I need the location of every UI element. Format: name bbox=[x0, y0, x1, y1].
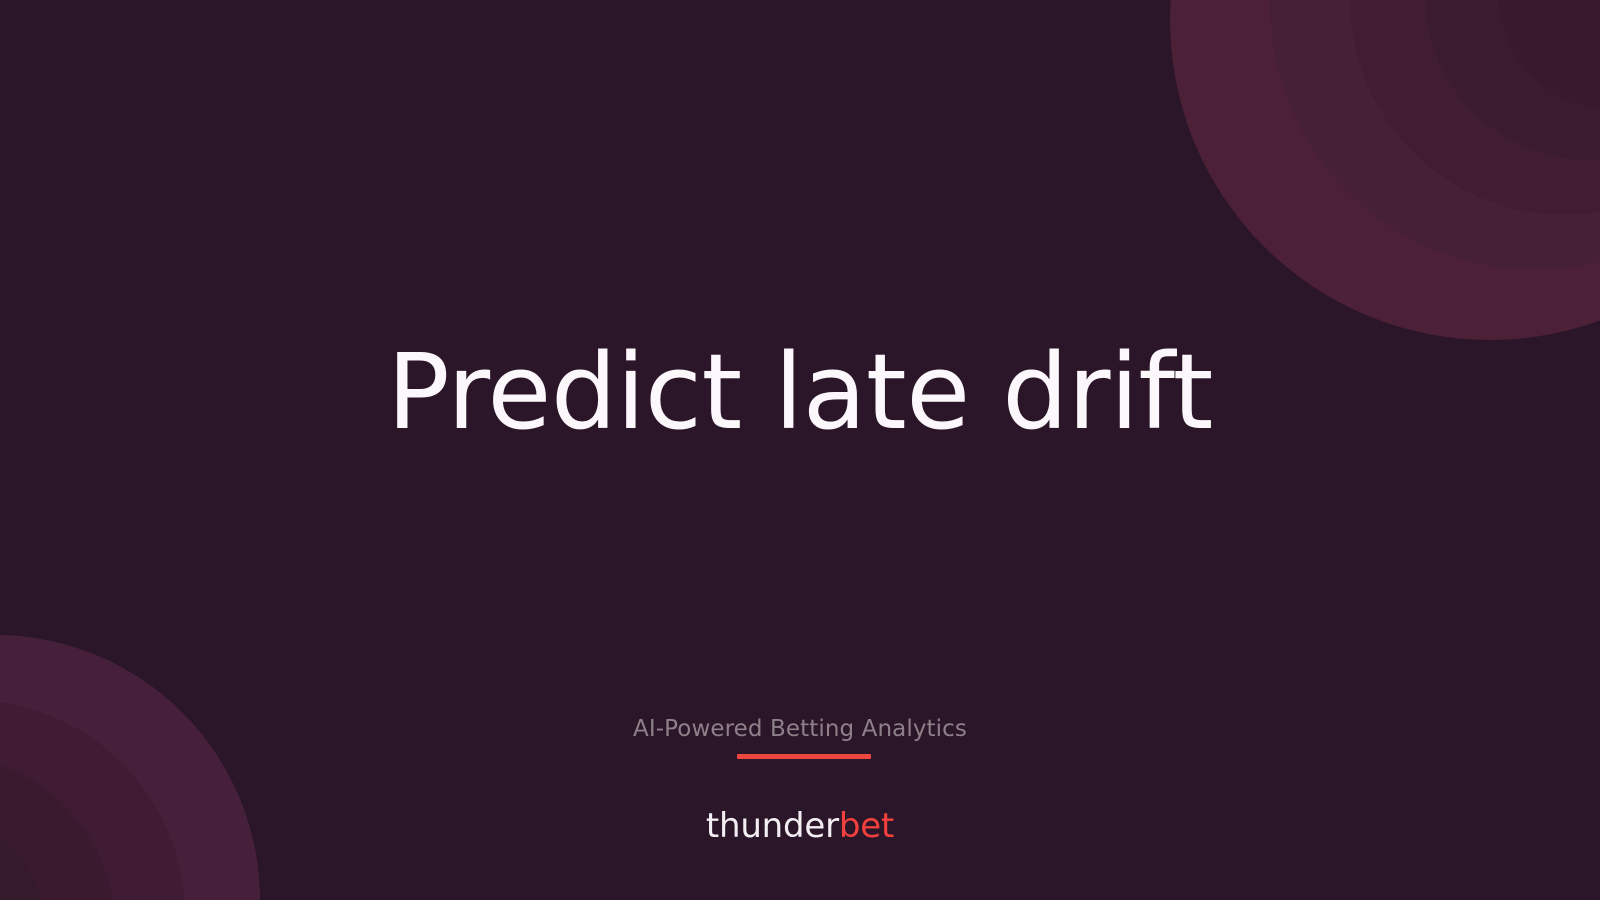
presentation-slide: Predict late drift AI-Powered Betting An… bbox=[0, 0, 1600, 900]
accent-underline-bar bbox=[737, 754, 871, 759]
slide-subtitle: AI-Powered Betting Analytics bbox=[633, 716, 967, 742]
logo-container: thunderbet bbox=[0, 806, 1600, 846]
subtitle-text: AI-Powered Betting Analytics bbox=[633, 716, 967, 742]
logo-primary-text: thunder bbox=[706, 806, 839, 846]
brand-logo: thunderbet bbox=[706, 806, 894, 846]
slide-title: Predict late drift bbox=[0, 333, 1600, 453]
subtitle-container: AI-Powered Betting Analytics bbox=[0, 716, 1600, 742]
logo-accent-text: bet bbox=[839, 806, 894, 846]
